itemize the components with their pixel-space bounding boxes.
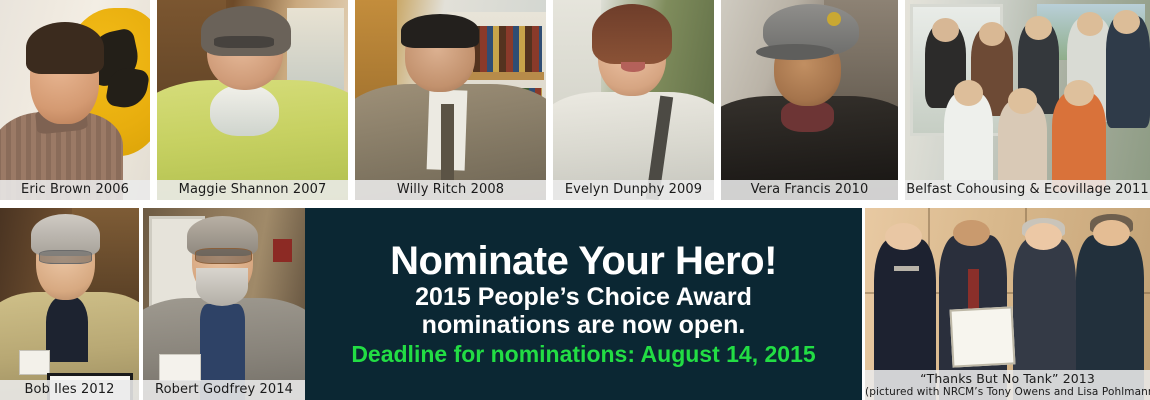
photo-tile-vera-francis[interactable]: Vera Francis 2010	[721, 0, 898, 200]
photo-caption: Belfast Cohousing & Ecovillage 2011	[905, 180, 1150, 200]
photo-caption: Robert Godfrey 2014	[143, 380, 305, 400]
banner-headline: Nominate Your Hero!	[390, 239, 777, 283]
photo-tile-maggie-shannon[interactable]: Maggie Shannon 2007	[157, 0, 348, 200]
photo-caption: “Thanks But No Tank” 2013 (pictured with…	[865, 370, 1150, 400]
photo-tile-evelyn-dunphy[interactable]: Evelyn Dunphy 2009	[553, 0, 714, 200]
photo-image-belfast-cohousing	[905, 0, 1150, 200]
photo-tile-bob-iles[interactable]: Bob Iles 2012	[0, 208, 139, 400]
photo-tile-thanks-but-no-tank[interactable]: “Thanks But No Tank” 2013 (pictured with…	[865, 208, 1150, 400]
photo-caption-sub: (pictured with NRCM’s Tony Owens and Lis…	[865, 386, 1150, 398]
photo-caption: Vera Francis 2010	[721, 180, 898, 200]
photo-tile-robert-godfrey[interactable]: Robert Godfrey 2014	[143, 208, 305, 400]
photo-image-eric-brown	[0, 0, 150, 200]
banner-line-2: 2015 People’s Choice Award	[415, 283, 752, 311]
photo-tile-willy-ritch[interactable]: Willy Ritch 2008	[355, 0, 546, 200]
collage-banner: Eric Brown 2006 Maggie Shannon 2007 Will…	[0, 0, 1150, 400]
photo-image-evelyn-dunphy	[553, 0, 714, 200]
photo-caption: Evelyn Dunphy 2009	[553, 180, 714, 200]
photo-tile-belfast-cohousing[interactable]: Belfast Cohousing & Ecovillage 2011	[905, 0, 1150, 200]
photo-image-willy-ritch	[355, 0, 546, 200]
photo-caption: Eric Brown 2006	[0, 180, 150, 200]
banner-deadline: Deadline for nominations: August 14, 201…	[351, 339, 815, 369]
photo-tile-eric-brown[interactable]: Eric Brown 2006	[0, 0, 150, 200]
nomination-banner[interactable]: Nominate Your Hero! 2015 People’s Choice…	[305, 208, 862, 400]
photo-caption-main: “Thanks But No Tank” 2013	[920, 371, 1095, 386]
photo-caption: Bob Iles 2012	[0, 380, 139, 400]
photo-image-maggie-shannon	[157, 0, 348, 200]
photo-image-robert-godfrey	[143, 208, 305, 400]
photo-caption: Maggie Shannon 2007	[157, 180, 348, 200]
photo-image-vera-francis	[721, 0, 898, 200]
banner-line-3: nominations are now open.	[422, 311, 746, 339]
photo-caption: Willy Ritch 2008	[355, 180, 546, 200]
photo-image-bob-iles	[0, 208, 139, 400]
